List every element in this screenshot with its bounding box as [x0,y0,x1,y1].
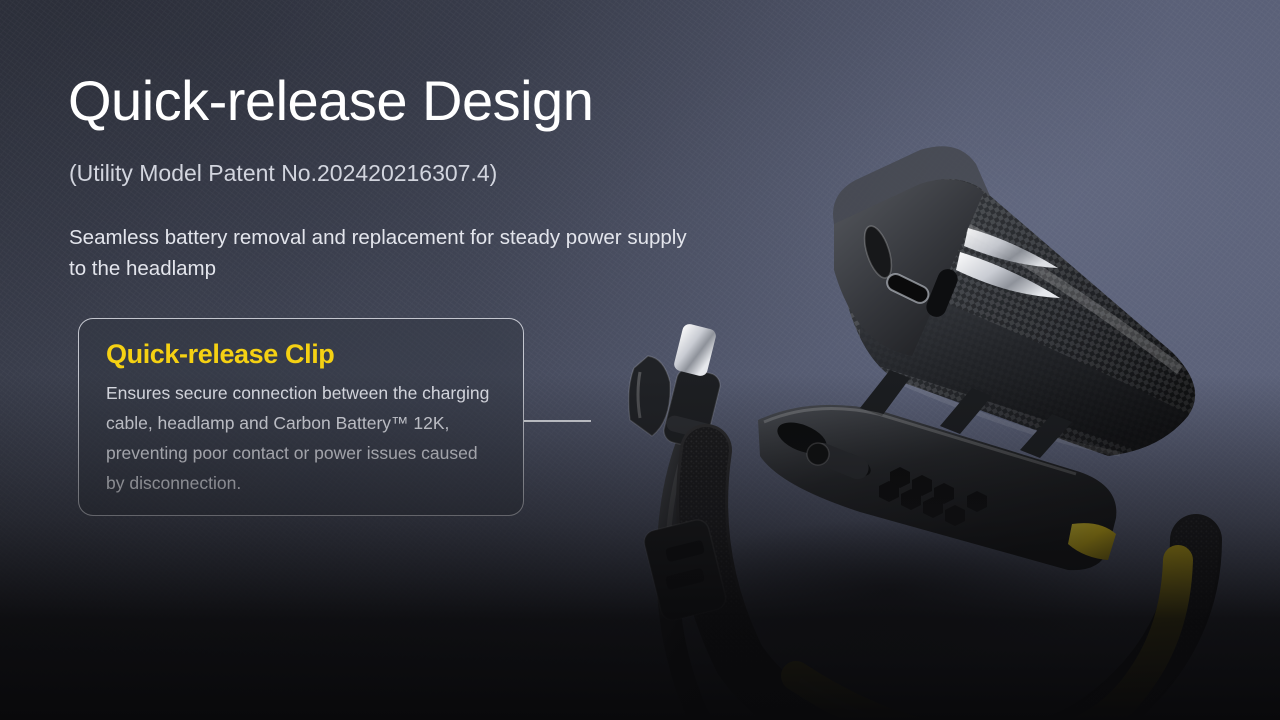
background-bottom-fade [0,0,1280,720]
slide-root: Quick-release Design (Utility Model Pate… [0,0,1280,720]
